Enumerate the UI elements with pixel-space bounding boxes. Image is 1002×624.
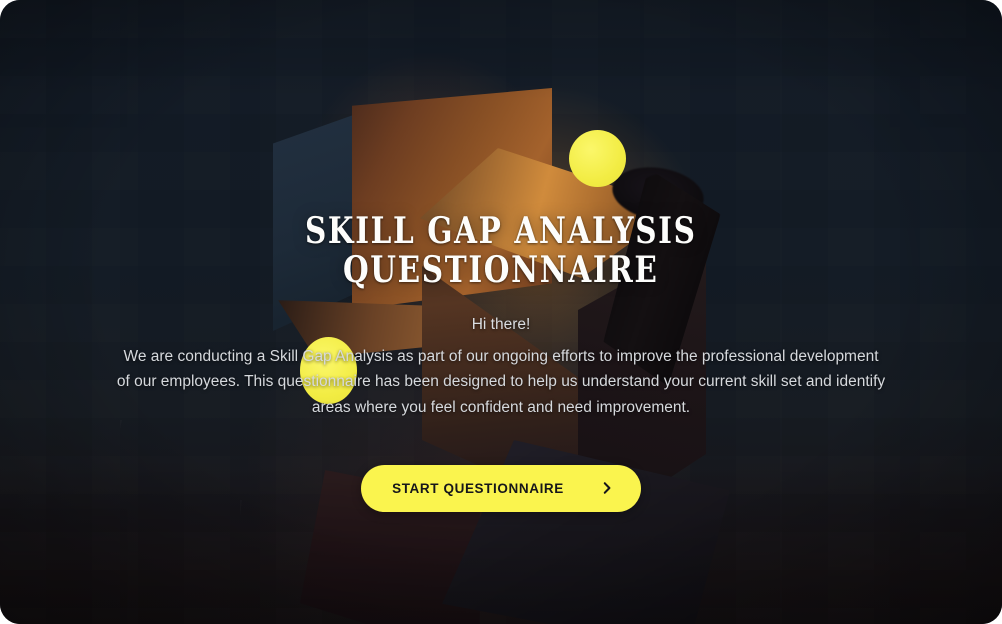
greeting-text: Hi there!	[472, 313, 531, 336]
start-questionnaire-label: START QUESTIONNAIRE	[392, 481, 564, 496]
chevron-right-icon	[600, 481, 614, 495]
hero-content: SKILL GAP ANALYSIS QUESTIONNAIRE Hi ther…	[0, 0, 1002, 624]
description-text: We are conducting a Skill Gap Analysis a…	[115, 344, 887, 419]
start-questionnaire-button[interactable]: START QUESTIONNAIRE	[361, 465, 641, 512]
page-title: SKILL GAP ANALYSIS QUESTIONNAIRE	[305, 212, 697, 289]
questionnaire-intro-card: SKILL GAP ANALYSIS QUESTIONNAIRE Hi ther…	[0, 0, 1002, 624]
